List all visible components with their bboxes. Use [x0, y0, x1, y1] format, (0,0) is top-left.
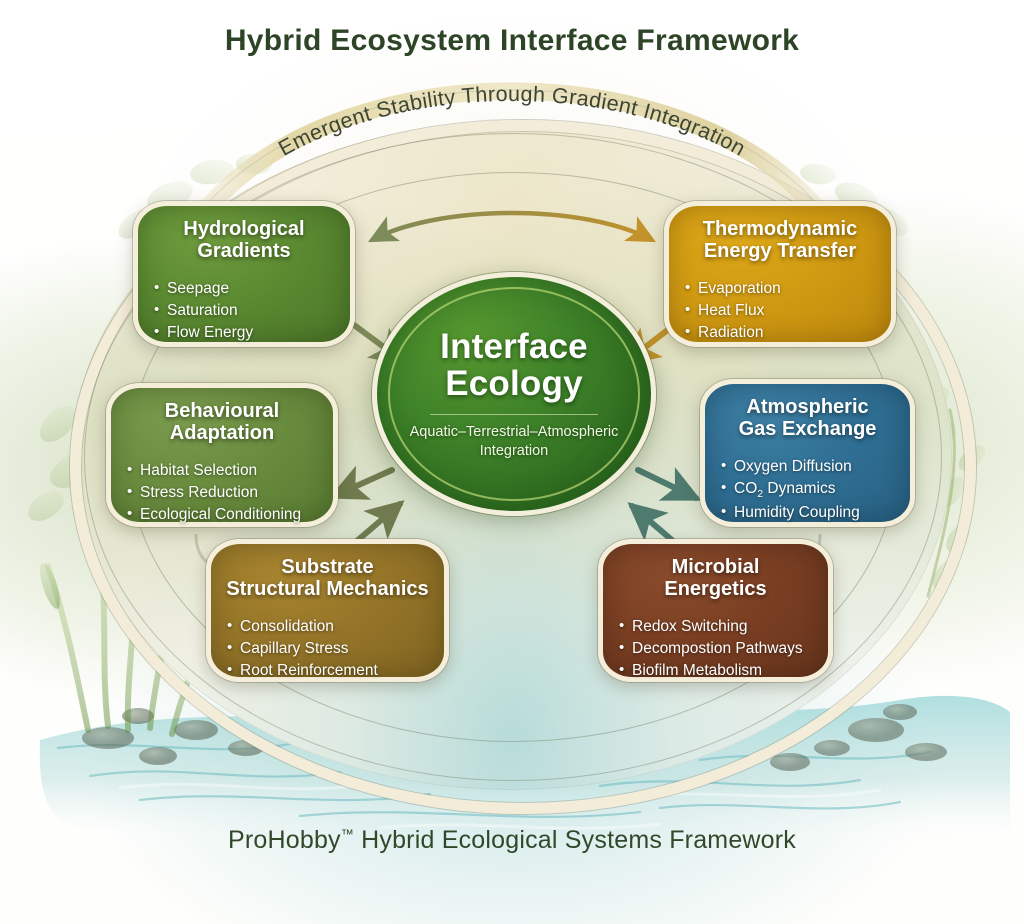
- node-title: Substrate Structural Mechanics: [225, 556, 430, 601]
- footer-rest: Hybrid Ecological Systems Framework: [354, 826, 796, 854]
- node-title-line1: Thermodynamic: [683, 218, 877, 240]
- hub-subtitle: Aquatic–Terrestrial–Atmospheric Integrat…: [410, 423, 619, 460]
- hub-subtitle-line2: Integration: [410, 442, 619, 461]
- node-title: Microbial Energetics: [617, 556, 814, 601]
- hub-divider: [430, 414, 598, 415]
- list-item: Habitat Selection: [125, 460, 319, 482]
- node-title-line2: Adaptation: [125, 422, 319, 444]
- page-title: Hybrid Ecosystem Interface Framework: [0, 24, 1024, 58]
- co2-prefix: CO: [734, 480, 757, 497]
- node-title-line2: Energetics: [617, 578, 814, 600]
- node-bullet-list: Redox Switching Decompostion Pathways Bi…: [617, 616, 814, 682]
- node-bullet-list: Consolidation Capillary Stress Root Rein…: [225, 616, 430, 682]
- list-item: Heat Flux: [683, 300, 877, 322]
- hub-title-line2: Ecology: [440, 365, 588, 403]
- node-bullet-list: Habitat Selection Stress Reduction Ecolo…: [125, 460, 319, 526]
- center-hub[interactable]: Interface Ecology Aquatic–Terrestrial–At…: [372, 272, 656, 516]
- node-title-line2: Energy Transfer: [683, 240, 877, 262]
- footer-brand: ProHobby: [228, 826, 341, 854]
- node-hydrological-gradients[interactable]: Hydrological Gradients Seepage Saturatio…: [133, 201, 355, 347]
- node-bullet-list: Seepage Saturation Flow Energy: [152, 278, 336, 344]
- node-title-line1: Behavioural: [125, 400, 319, 422]
- list-item: Root Reinforcement: [225, 660, 430, 682]
- hub-title-line1: Interface: [440, 328, 588, 366]
- page-footer: ProHobby™ Hybrid Ecological Systems Fram…: [0, 826, 1024, 855]
- hub-title: Interface Ecology: [440, 328, 588, 404]
- node-title-line2: Structural Mechanics: [225, 578, 430, 600]
- node-title-line2: Gradients: [152, 240, 336, 262]
- co2-suffix: Dynamics: [763, 480, 835, 497]
- node-title: Thermodynamic Energy Transfer: [683, 218, 877, 263]
- node-title: Hydrological Gradients: [152, 218, 336, 263]
- node-title-line1: Atmospheric: [719, 396, 896, 418]
- list-item: Humidity Coupling: [719, 502, 896, 524]
- list-item: Oxygen Diffusion: [719, 456, 896, 478]
- list-item: CO2 Dynamics: [719, 478, 896, 502]
- list-item: Ecological Conditioning: [125, 504, 319, 526]
- node-title-line1: Hydrological: [152, 218, 336, 240]
- node-title-line1: Microbial: [617, 556, 814, 578]
- node-atmospheric-gas-exchange[interactable]: Atmospheric Gas Exchange Oxygen Diffusio…: [700, 379, 915, 527]
- trademark-symbol: ™: [341, 827, 354, 842]
- list-item: Consolidation: [225, 616, 430, 638]
- node-title: Atmospheric Gas Exchange: [719, 396, 896, 441]
- node-title-line1: Substrate: [225, 556, 430, 578]
- list-item: Seepage: [152, 278, 336, 300]
- list-item: Radiation: [683, 322, 877, 344]
- list-item: Stress Reduction: [125, 482, 319, 504]
- node-bullet-list: Evaporation Heat Flux Radiation: [683, 278, 877, 344]
- node-behavioural-adaptation[interactable]: Behavioural Adaptation Habitat Selection…: [106, 383, 338, 527]
- list-item: Redox Switching: [617, 616, 814, 638]
- node-substrate-structural-mechanics[interactable]: Substrate Structural Mechanics Consolida…: [206, 539, 449, 682]
- node-title-line2: Gas Exchange: [719, 418, 896, 440]
- list-item: Biofilm Metabolism: [617, 660, 814, 682]
- list-item: Capillary Stress: [225, 638, 430, 660]
- list-item: Flow Energy: [152, 322, 336, 344]
- node-thermodynamic-energy-transfer[interactable]: Thermodynamic Energy Transfer Evaporatio…: [664, 201, 896, 347]
- node-bullet-list: Oxygen Diffusion CO2 Dynamics Humidity C…: [719, 456, 896, 524]
- diagram-canvas: Emergent Stability Through Gradient Inte…: [0, 0, 1024, 924]
- node-title: Behavioural Adaptation: [125, 400, 319, 445]
- list-item: Saturation: [152, 300, 336, 322]
- node-microbial-energetics[interactable]: Microbial Energetics Redox Switching Dec…: [598, 539, 833, 682]
- hub-subtitle-line1: Aquatic–Terrestrial–Atmospheric: [410, 423, 619, 442]
- list-item: Evaporation: [683, 278, 877, 300]
- list-item: Decompostion Pathways: [617, 638, 814, 660]
